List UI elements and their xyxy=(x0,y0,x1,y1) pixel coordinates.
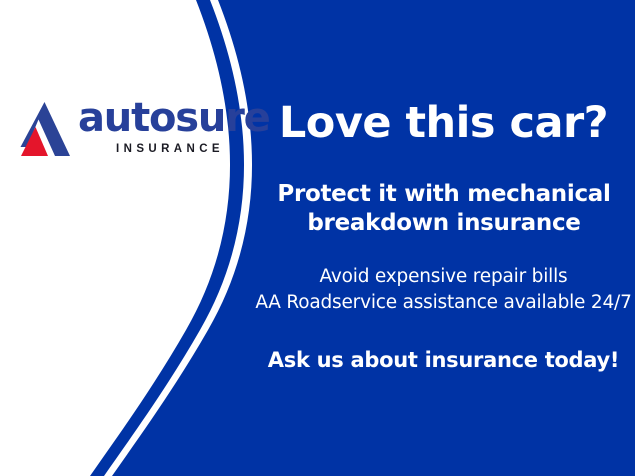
autosure-insurance-banner: autosure INSURANCE Love this car? Protec… xyxy=(0,0,635,476)
headline: Love this car? xyxy=(252,98,635,148)
body-copy: Avoid expensive repair bills AA Roadserv… xyxy=(254,264,633,316)
subheading: Protect it with mechanical breakdown ins… xyxy=(258,180,630,238)
autosure-a-mark-icon xyxy=(14,98,76,160)
autosure-wordmark: autosure INSURANCE xyxy=(76,96,228,156)
body-line-2: AA Roadservice assistance available 24/7 xyxy=(254,290,633,316)
logo-wordmark-text: autosure xyxy=(76,96,228,140)
message-panel: Love this car? Protect it with mechanica… xyxy=(252,0,635,476)
subheading-line-2: breakdown insurance xyxy=(307,210,580,236)
autosure-logo: autosure INSURANCE xyxy=(14,96,229,168)
call-to-action: Ask us about insurance today! xyxy=(254,347,633,374)
logo-subtext: INSURANCE xyxy=(76,142,224,156)
subheading-line-1: Protect it with mechanical xyxy=(277,181,610,207)
body-line-1: Avoid expensive repair bills xyxy=(254,264,633,290)
